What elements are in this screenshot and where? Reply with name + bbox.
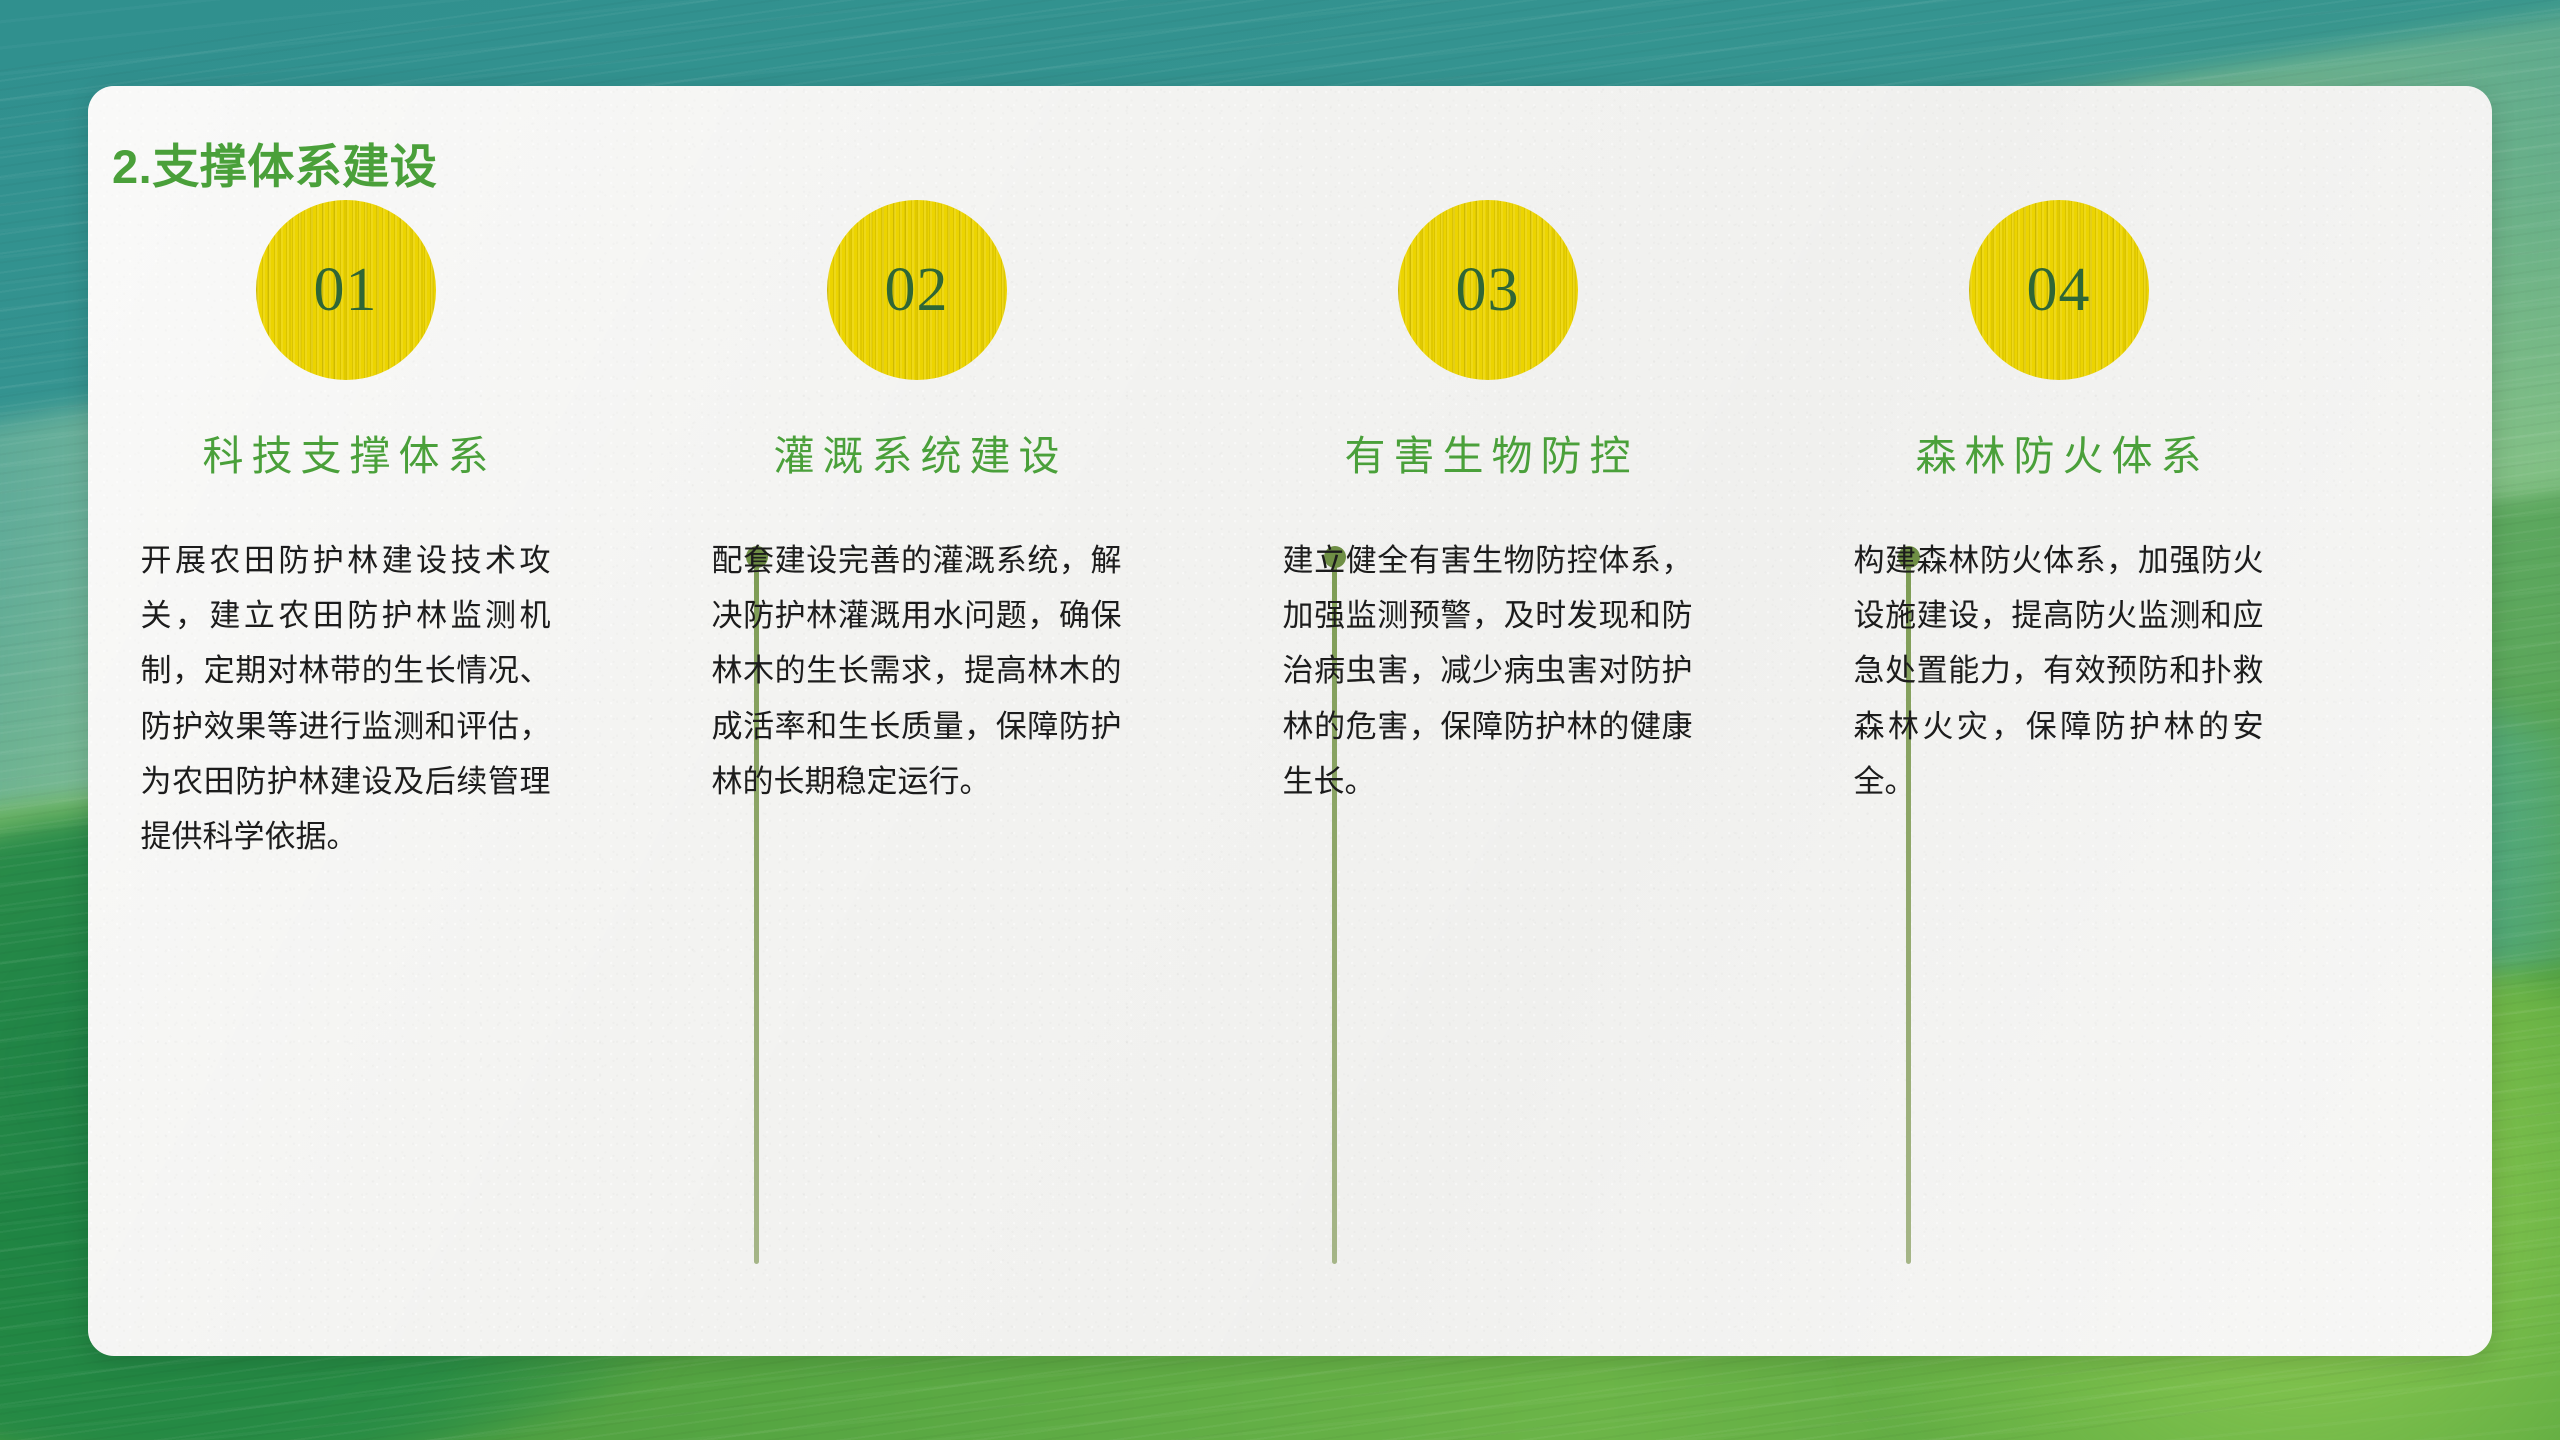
column-heading-4: 森林防火体系 bbox=[1908, 436, 2210, 477]
number-badge-2: 02 bbox=[827, 200, 1007, 380]
column-heading-3: 有害生物防控 bbox=[1337, 436, 1639, 477]
column-item-4: 04 森林防火体系 构建森林防火体系，加强防火设施建设，提高防火监测和应急处置能… bbox=[1773, 200, 2344, 1220]
column-body-1: 开展农田防护林建设技术攻关，建立农田防护林监测机制，定期对林带的生长情况、防护效… bbox=[141, 533, 551, 864]
badge-number-label: 01 bbox=[314, 259, 378, 321]
column-heading-2: 灌溉系统建设 bbox=[766, 436, 1068, 477]
column-body-2: 配套建设完善的灌溉系统，解决防护林灌溉用水问题，确保林木的生长需求，提高林木的成… bbox=[712, 533, 1122, 809]
badge-number-label: 03 bbox=[1456, 259, 1520, 321]
page-title: 2.支撑体系建设 bbox=[112, 128, 437, 197]
column-item-2: 02 灌溉系统建设 配套建设完善的灌溉系统，解决防护林灌溉用水问题，确保林木的生… bbox=[631, 200, 1202, 1220]
slide-root: 2.支撑体系建设 01 科技支撑体系 开展农田防护林建设技术攻关，建立农田防护林… bbox=[0, 0, 2560, 1440]
column-item-3: 03 有害生物防控 建立健全有害生物防控体系，加强监测预警，及时发现和防治病虫害… bbox=[1202, 200, 1773, 1220]
badge-number-label: 04 bbox=[2027, 259, 2091, 321]
number-badge-3: 03 bbox=[1398, 200, 1578, 380]
number-badge-1: 01 bbox=[256, 200, 436, 380]
column-body-3: 建立健全有害生物防控体系，加强监测预警，及时发现和防治病虫害，减少病虫害对防护林… bbox=[1283, 533, 1693, 809]
column-item-1: 01 科技支撑体系 开展农田防护林建设技术攻关，建立农田防护林监测机制，定期对林… bbox=[60, 200, 631, 1220]
columns-container: 01 科技支撑体系 开展农田防护林建设技术攻关，建立农田防护林监测机制，定期对林… bbox=[60, 200, 2344, 1220]
column-body-4: 构建森林防火体系，加强防火设施建设，提高防火监测和应急处置能力，有效预防和扑救森… bbox=[1854, 533, 2264, 809]
column-heading-1: 科技支撑体系 bbox=[195, 436, 497, 477]
badge-number-label: 02 bbox=[885, 259, 949, 321]
number-badge-4: 04 bbox=[1969, 200, 2149, 380]
